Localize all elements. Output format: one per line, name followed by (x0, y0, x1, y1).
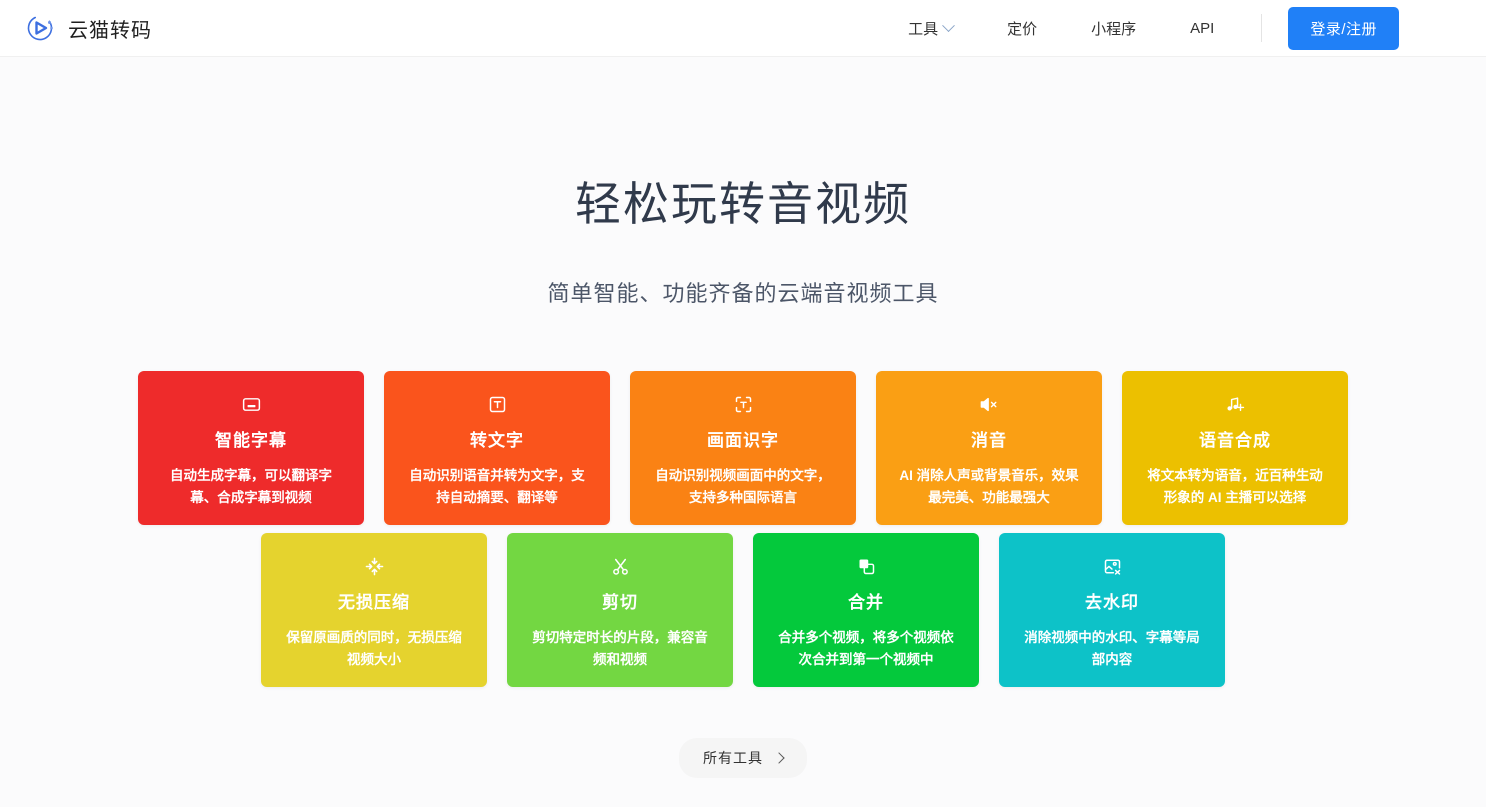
tool-card-title: 语音合成 (1138, 426, 1332, 451)
tool-card-row-1: 智能字幕 自动生成字幕，可以翻译字幕、合成字幕到视频 转文字 自动识别语音并转为… (0, 371, 1486, 525)
nav-item-api[interactable]: API (1163, 0, 1241, 56)
tool-card-to-text[interactable]: 转文字 自动识别语音并转为文字，支持自动摘要、翻译等 (384, 371, 610, 525)
all-tools-section: 所有工具 (0, 738, 1486, 778)
nav-item-pricing[interactable]: 定价 (980, 0, 1064, 56)
nav-item-tools[interactable]: 工具 (881, 0, 980, 56)
page-title: 轻松玩转音视频 (0, 177, 1486, 232)
merge-squares-icon (769, 555, 963, 577)
scissors-icon (523, 555, 717, 577)
tool-card-title: 智能字幕 (154, 426, 348, 451)
nav-item-label: API (1190, 20, 1214, 37)
tool-card-description: 自动识别语音并转为文字，支持自动摘要、翻译等 (400, 465, 594, 510)
tool-card-description: 将文本转为语音，近百种生动形象的 AI 主播可以选择 (1138, 465, 1332, 510)
tool-card-cut[interactable]: 剪切 剪切特定时长的片段，兼容音频和视频 (507, 533, 733, 687)
tool-card-remove-watermark[interactable]: 去水印 消除视频中的水印、字幕等局部内容 (999, 533, 1225, 687)
site-header: 云猫转码 工具 定价 小程序 API 登录/注册 (0, 0, 1486, 57)
tool-card-title: 消音 (892, 426, 1086, 451)
tool-card-title: 画面识字 (646, 426, 840, 451)
tool-card-description: AI 消除人声或背景音乐，效果最完美、功能最强大 (892, 465, 1086, 510)
all-tools-button[interactable]: 所有工具 (679, 738, 807, 778)
tool-card-title: 合并 (769, 588, 963, 613)
login-register-button[interactable]: 登录/注册 (1288, 7, 1399, 50)
nav-item-miniprogram[interactable]: 小程序 (1064, 0, 1163, 56)
all-tools-label: 所有工具 (703, 748, 763, 768)
tool-card-description: 消除视频中的水印、字幕等局部内容 (1015, 627, 1209, 672)
nav-divider (1261, 14, 1262, 42)
chevron-down-icon (942, 19, 955, 32)
nav-item-label: 工具 (908, 18, 938, 39)
tool-cards: 智能字幕 自动生成字幕，可以翻译字幕、合成字幕到视频 转文字 自动识别语音并转为… (0, 371, 1486, 687)
tool-card-tts[interactable]: 语音合成 将文本转为语音，近百种生动形象的 AI 主播可以选择 (1122, 371, 1348, 525)
page-subtitle: 简单智能、功能齐备的云端音视频工具 (0, 276, 1486, 308)
tool-card-smart-subtitle[interactable]: 智能字幕 自动生成字幕，可以翻译字幕、合成字幕到视频 (138, 371, 364, 525)
hero-section: 轻松玩转音视频 简单智能、功能齐备的云端音视频工具 (0, 57, 1486, 308)
cloud-cat-play-logo-icon (25, 12, 57, 44)
tool-card-compress[interactable]: 无损压缩 保留原画质的同时，无损压缩视频大小 (261, 533, 487, 687)
tool-card-description: 合并多个视频，将多个视频依次合并到第一个视频中 (769, 627, 963, 672)
tool-card-title: 转文字 (400, 426, 594, 451)
tool-card-description: 保留原画质的同时，无损压缩视频大小 (277, 627, 471, 672)
subtitle-icon (154, 393, 348, 415)
tool-card-description: 剪切特定时长的片段，兼容音频和视频 (523, 627, 717, 672)
brand-logo-link[interactable]: 云猫转码 (25, 12, 152, 44)
nav-item-label: 定价 (1007, 18, 1037, 39)
tool-card-ocr[interactable]: 画面识字 自动识别视频画面中的文字，支持多种国际语言 (630, 371, 856, 525)
main-nav: 工具 定价 小程序 API 登录/注册 (881, 0, 1399, 56)
nav-item-label: 小程序 (1091, 18, 1136, 39)
tool-card-title: 去水印 (1015, 588, 1209, 613)
tool-card-merge[interactable]: 合并 合并多个视频，将多个视频依次合并到第一个视频中 (753, 533, 979, 687)
tool-card-mute[interactable]: 消音 AI 消除人声或背景音乐，效果最完美、功能最强大 (876, 371, 1102, 525)
tool-card-description: 自动识别视频画面中的文字，支持多种国际语言 (646, 465, 840, 510)
chevron-right-icon (773, 753, 784, 764)
tool-card-title: 剪切 (523, 588, 717, 613)
image-remove-icon (1015, 555, 1209, 577)
music-note-plus-icon (1138, 393, 1332, 415)
text-box-icon (400, 393, 594, 415)
tool-card-title: 无损压缩 (277, 588, 471, 613)
scan-text-icon (646, 393, 840, 415)
tool-card-row-2: 无损压缩 保留原画质的同时，无损压缩视频大小 剪切 剪切特定时长的片段，兼容音频… (0, 533, 1486, 687)
compress-icon (277, 555, 471, 577)
tool-card-description: 自动生成字幕，可以翻译字幕、合成字幕到视频 (154, 465, 348, 510)
mute-icon (892, 393, 1086, 415)
brand-name: 云猫转码 (68, 14, 152, 43)
